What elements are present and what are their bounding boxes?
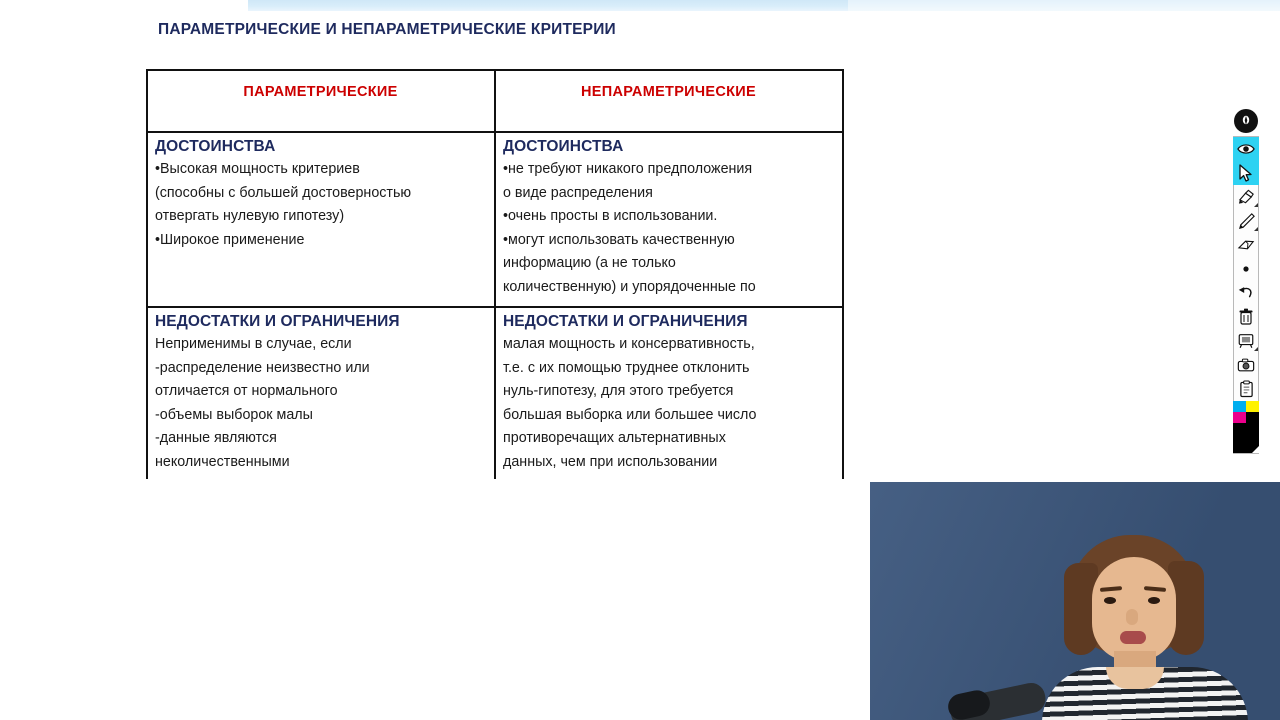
text-line: данных, чем при использовании [503,451,834,475]
text-line: Неприменимы в случае, если [155,333,486,357]
text-line: •могут использовать качественную [503,229,834,253]
color-swatch-yellow[interactable] [1246,401,1259,412]
pen-tool[interactable] [1233,209,1259,233]
cursor-icon [1238,164,1254,182]
eraser-icon [1237,237,1256,253]
cell-body-text: •Высокая мощность критериев (способны с … [155,158,486,252]
page-title: ПАРАМЕТРИЧЕСКИЕ И НЕПАРАМЕТРИЧЕСКИЕ КРИТ… [158,21,616,39]
text-line: информацию (а не только [503,252,834,276]
color-swatch-cyan[interactable] [1233,401,1246,412]
annotation-toolbar [1233,136,1259,454]
top-banner-strip [248,0,848,11]
text-line: отличается от нормального [155,380,486,404]
slide-screen: ПАРАМЕТРИЧЕСКИЕ И НЕПАРАМЕТРИЧЕСКИЕ КРИТ… [0,0,1280,720]
top-banner-strip-tail [848,0,1280,11]
text-line: •очень просты в использовании. [503,205,834,229]
table-header-cell-nonparametric: НЕПАРАМЕТРИЧЕСКИЕ [496,71,842,131]
color-swatch-black[interactable] [1246,412,1259,423]
text-line: -данные являются [155,427,486,451]
clear-button[interactable] [1233,305,1259,329]
text-line: параметрических критериев [503,474,834,479]
text-line: •не требуют никакого предположения [503,158,834,182]
color-palette[interactable] [1233,401,1259,423]
section-heading: ДОСТОИНСТВА [155,137,486,157]
text-line: т.е. с их помощью труднее отклонить [503,357,834,381]
text-line: отвергать нулевую гипотезу) [155,205,486,229]
text-line: рангам данные. [503,299,834,306]
present-tool[interactable] [1233,329,1259,353]
visibility-tool[interactable] [1233,137,1259,161]
text-line: (способны с большей достоверностью [155,182,486,206]
pen-icon [1237,212,1256,231]
highlighter-icon [1237,188,1256,206]
point-tool[interactable] [1233,257,1259,281]
text-line: -объемы выборок малы [155,404,486,428]
dot-icon [1241,264,1251,274]
table-header-cell-parametric: ПАРАМЕТРИЧЕСКИЕ [148,71,496,131]
chevron-down-icon [1254,347,1258,351]
column-header-label: ПАРАМЕТРИЧЕСКИЕ [155,75,486,100]
pen-circle-logo-icon[interactable] [1234,109,1258,133]
section-heading: НЕДОСТАТКИ И ОГРАНИЧЕНИЯ [155,312,486,332]
color-swatch-magenta[interactable] [1233,412,1246,423]
highlighter-tool[interactable] [1233,185,1259,209]
text-line: -распределение неизвестно или [155,357,486,381]
cell-parametric-advantages: ДОСТОИНСТВА •Высокая мощность критериев … [148,133,496,306]
table-row-disadvantages: НЕДОСТАТКИ И ОГРАНИЧЕНИЯ Неприменимы в с… [148,308,842,479]
undo-button[interactable] [1233,281,1259,305]
cell-parametric-disadvantages: НЕДОСТАТКИ И ОГРАНИЧЕНИЯ Неприменимы в с… [148,308,496,479]
text-line: большая выборка или большее число [503,404,834,428]
presenter-video[interactable] [870,482,1280,720]
eraser-tool[interactable] [1233,233,1259,257]
table-header-row: ПАРАМЕТРИЧЕСКИЕ НЕПАРАМЕТРИЧЕСКИЕ [148,71,842,133]
pointer-tool[interactable] [1233,161,1259,185]
presenter-figure [1040,535,1250,720]
text-line: •Высокая мощность критериев [155,158,486,182]
section-heading: ДОСТОИНСТВА [503,137,834,157]
table-row-advantages: ДОСТОИНСТВА •Высокая мощность критериев … [148,133,842,308]
projector-icon [1237,332,1255,350]
text-line: малая мощность и консервативность, [503,333,834,357]
text-line: нуль-гипотезу, для этого требуется [503,380,834,404]
eye-icon [1237,142,1255,156]
text-line: •Широкое применение [155,229,486,253]
chevron-down-icon [1254,227,1258,231]
clipboard-icon [1239,380,1254,398]
resize-corner-icon [1252,446,1259,453]
clipboard-tool[interactable] [1233,377,1259,401]
column-header-label: НЕПАРАМЕТРИЧЕСКИЕ [503,75,834,100]
cell-body-text: Неприменимы в случае, если -распределени… [155,333,486,474]
text-line: неколичественными [155,451,486,475]
trash-icon [1238,308,1254,326]
undo-icon [1237,285,1255,301]
cell-body-text: •не требуют никакого предположения о вид… [503,158,834,306]
chevron-down-icon [1254,203,1258,207]
text-line: количественную) и упорядоченные по [503,276,834,300]
screenshot-tool[interactable] [1233,353,1259,377]
text-line: о виде распределения [503,182,834,206]
section-heading: НЕДОСТАТКИ И ОГРАНИЧЕНИЯ [503,312,834,332]
cell-nonparametric-disadvantages: НЕДОСТАТКИ И ОГРАНИЧЕНИЯ малая мощность … [496,308,842,479]
text-line: противоречащих альтернативных [503,427,834,451]
camera-icon [1237,357,1255,373]
comparison-table: ПАРАМЕТРИЧЕСКИЕ НЕПАРАМЕТРИЧЕСКИЕ ДОСТОИ… [146,69,844,479]
cell-nonparametric-advantages: ДОСТОИНСТВА •не требуют никакого предпол… [496,133,842,306]
active-color-swatch[interactable] [1233,423,1259,453]
cell-body-text: малая мощность и консервативность, т.е. … [503,333,834,479]
